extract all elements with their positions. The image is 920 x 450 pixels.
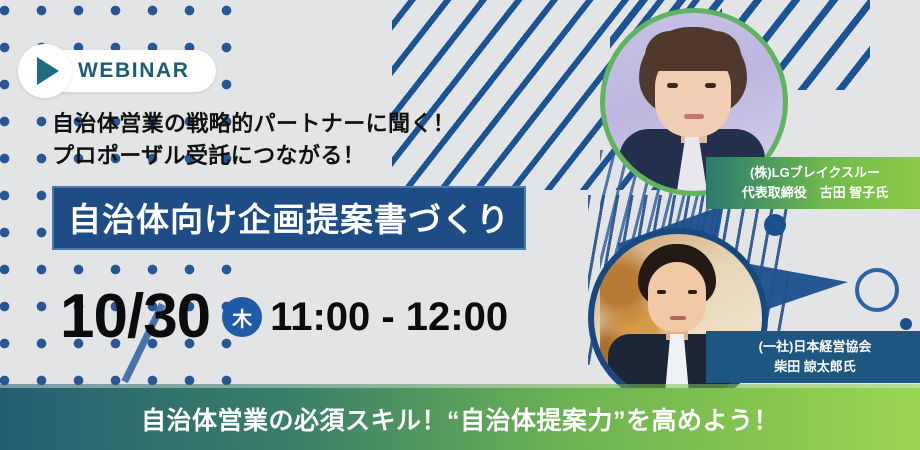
schedule-row: 10/30 木 11:00 - 12:00 [60,286,508,348]
headline-line-1: 自治体営業の戦略的パートナーに聞く！ [52,108,592,140]
speaker-2-name: 柴田 諒太郎氏 [718,357,912,377]
circle-outline-decor-1 [855,268,899,312]
webinar-badge-label: WEBINAR [78,59,190,83]
day-of-week-badge: 木 [222,297,262,337]
speaker-2-org: (一社)日本経営協会 [718,337,912,357]
webinar-banner: WEBINAR 自治体営業の戦略的パートナーに聞く！ プロポーザル受託につながる… [0,0,920,450]
event-date: 10/30 [60,286,210,348]
speaker-1-org: (株)LGブレイクスルー [718,163,912,183]
speaker-1-name: 代表取締役 古田 智子氏 [718,183,912,203]
speaker-caption-2: (一社)日本経営協会 柴田 諒太郎氏 [706,331,920,383]
event-time: 11:00 - 12:00 [270,295,508,340]
headline-subtitle: 自治体営業の戦略的パートナーに聞く！ プロポーザル受託につながる！ [52,108,592,172]
page-title-text: 自治体向け企画提案書づくり [68,193,510,241]
headline-line-2: プロポーザル受託につながる！ [52,140,592,172]
dot-decor-6 [900,318,912,330]
speaker-caption-1: (株)LGブレイクスルー 代表取締役 古田 智子氏 [706,157,920,209]
tagline-text: 自治体営業の必須スキル！“自治体提案力”を高めよう！ [141,401,779,437]
page-title: 自治体向け企画提案書づくり [52,186,526,250]
play-triangle-icon [18,44,72,98]
bottom-tagline-bar: 自治体営業の必須スキル！“自治体提案力”を高めよう！ [0,388,920,450]
dot-decor-5 [764,214,786,236]
